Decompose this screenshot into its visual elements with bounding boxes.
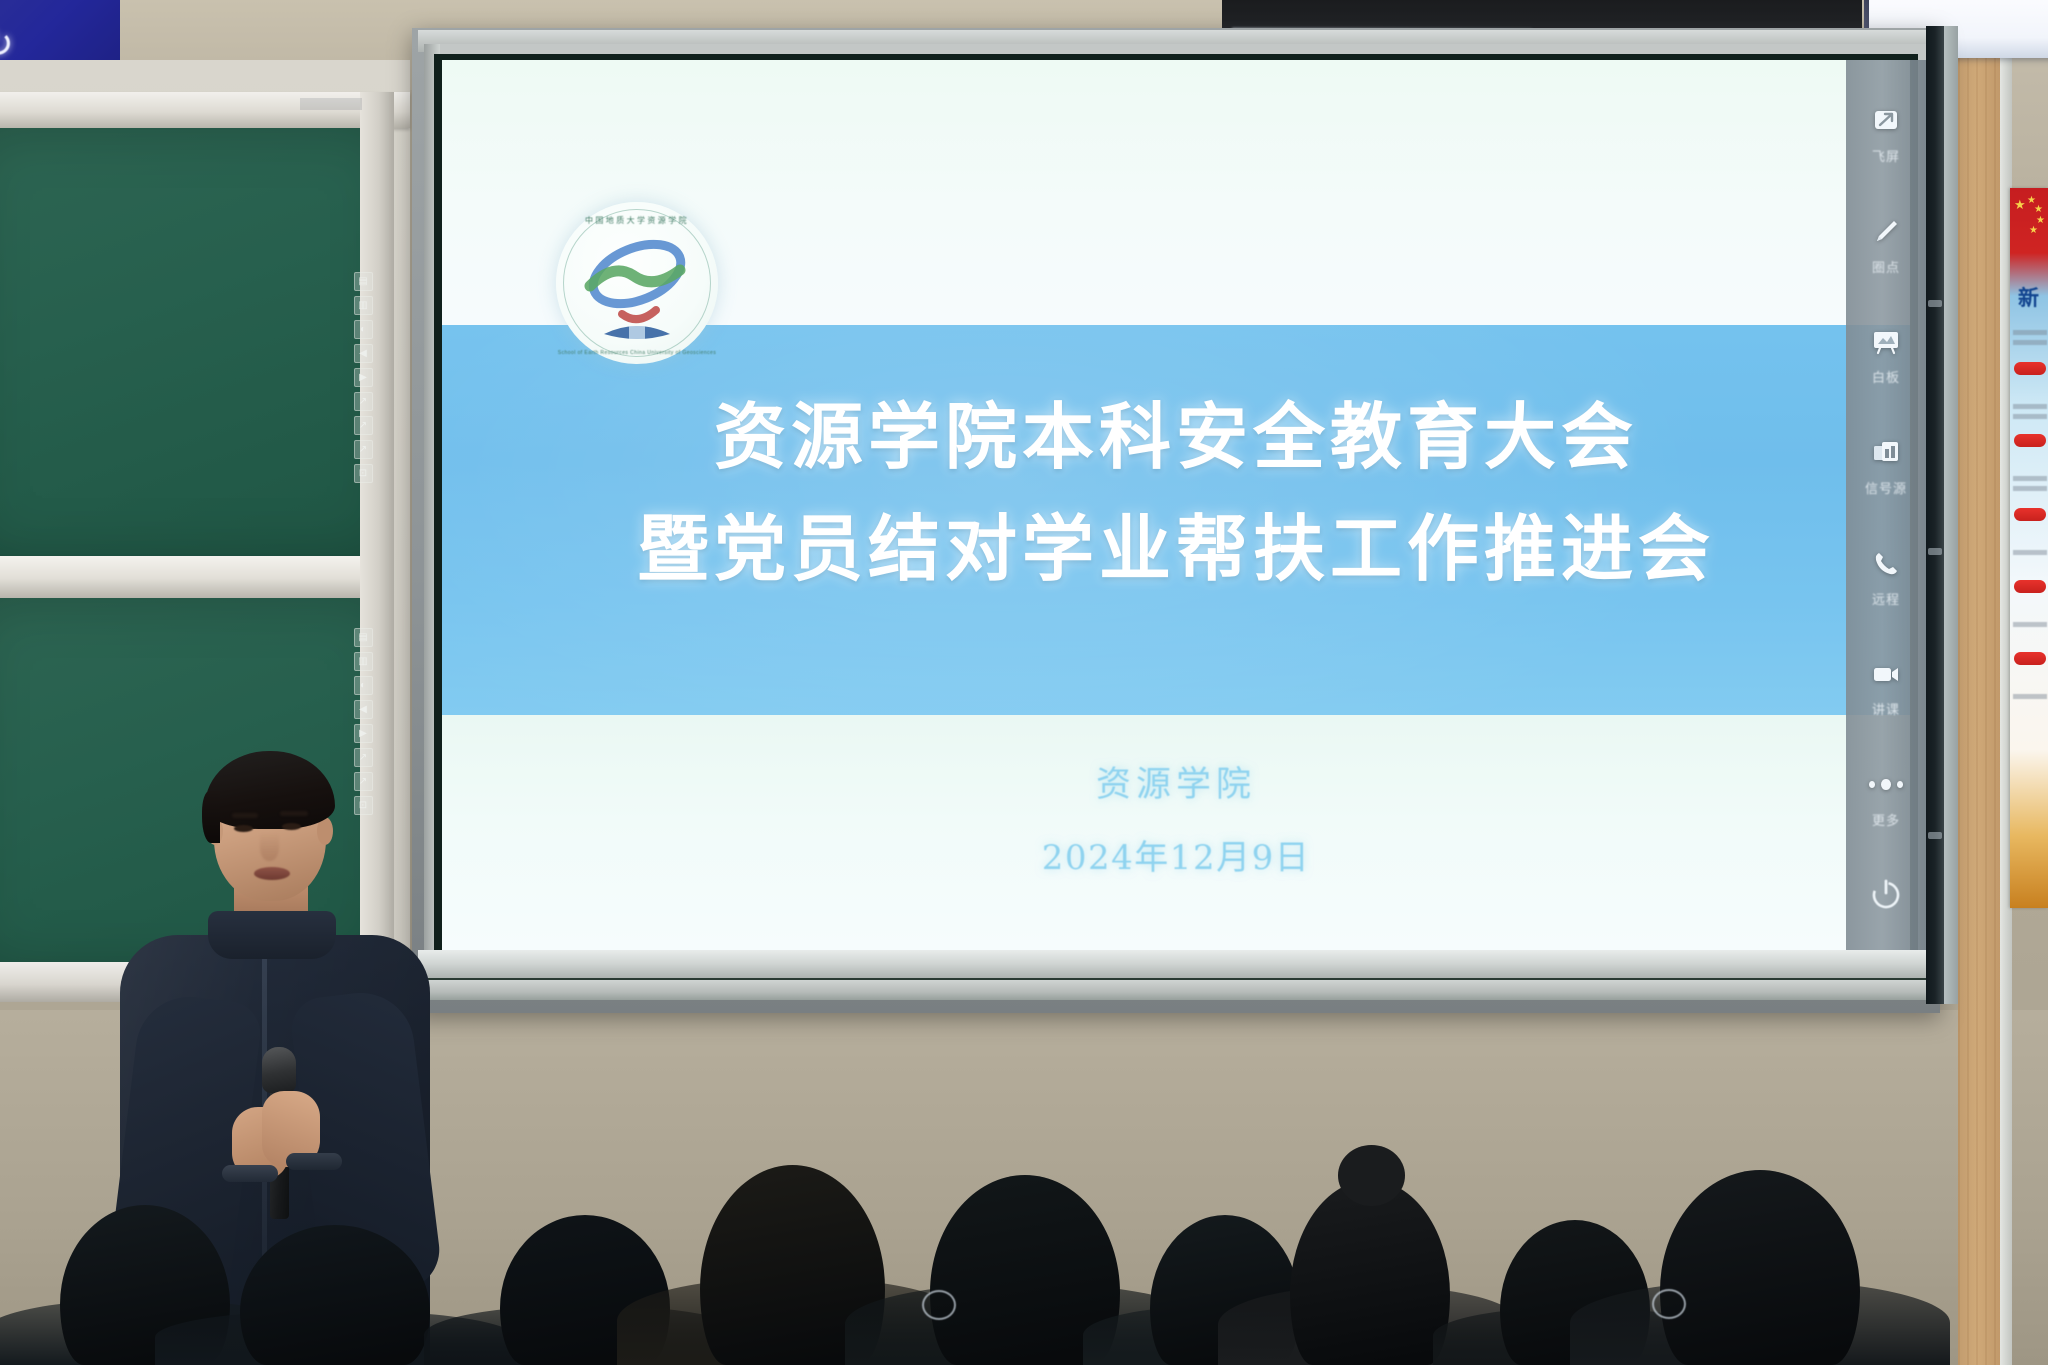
board2-btn-contrast[interactable]: ◐ (354, 676, 373, 695)
presenter-collar (208, 911, 336, 959)
audience-hair-bun (1338, 1145, 1405, 1206)
phone-call-icon (1869, 547, 1903, 581)
poster-text-line (2013, 404, 2047, 409)
audience-head (1290, 1180, 1450, 1365)
audience-head (1660, 1170, 1860, 1365)
poster-text-line (2013, 486, 2047, 491)
camera-icon (1869, 657, 1903, 691)
toolbar-label-fly-screen: 飞屏 (1872, 146, 1900, 165)
board-btn-power[interactable]: ⊡ (354, 464, 373, 483)
poster-title: 新 (2018, 282, 2039, 312)
poster-pill (2014, 652, 2046, 665)
presenter-nose (260, 833, 279, 861)
presenter-mouth (254, 867, 290, 880)
flag-stars: ★ ★ ★ ★ ★ (2012, 196, 2046, 248)
toolbar-item-whiteboard[interactable]: 白板 (1846, 319, 1926, 430)
presenter-eyebrow-right (280, 811, 308, 816)
bezel-screw (1928, 300, 1942, 307)
board-btn-up-3[interactable]: ↗ (354, 440, 373, 459)
bezel-screw (1928, 832, 1942, 839)
toolbar-item-phone[interactable]: 远程 (1846, 541, 1926, 652)
bezel-screw (1928, 548, 1942, 555)
audience-glasses (1652, 1289, 1686, 1319)
poster-text-line (2013, 330, 2047, 335)
display-bottom-lip2 (408, 978, 1944, 1000)
toolbar-label-more: 更多 (1872, 810, 1900, 829)
audience-head (240, 1225, 430, 1365)
presenter-eyebrow-left (232, 813, 258, 818)
power-icon[interactable] (1864, 873, 1908, 916)
emblem-cn-text: 中国地质大学资源学院 (556, 215, 718, 226)
toolbar-label-signal-source: 信号源 (1865, 478, 1907, 497)
poster-text-line (2013, 476, 2047, 481)
poster-pill (2014, 362, 2046, 375)
annotate-pen-icon (1869, 215, 1903, 249)
board-btn-source[interactable]: ▥ (354, 296, 373, 315)
poster-text-line (2013, 340, 2047, 345)
poster-pill (2014, 434, 2046, 447)
toolbar-item-signal-source[interactable]: 信号源 (1846, 430, 1926, 541)
board-btn-next[interactable]: ▶ (354, 368, 373, 387)
toolbar-item-fly-screen[interactable]: 飞屏 (1846, 98, 1926, 209)
board-btn-contrast[interactable]: ◐ (354, 320, 373, 339)
poster-text-line (2013, 622, 2047, 627)
display-bottom-lip (418, 950, 1934, 980)
blackboard-top-plate (300, 98, 362, 110)
signal-source-icon (1869, 436, 1903, 470)
board-control-strip-upper[interactable]: ▤ ▥ ◐ ◀ ▶ ↗ ↗ ↗ ⊡ (352, 272, 374, 483)
presentation-slide[interactable]: 中国地质大学资源学院 School of Earth Resources Chi… (442, 60, 1910, 950)
more-dots-icon (1869, 768, 1903, 802)
toolbar-item-camera[interactable]: 讲课 (1846, 651, 1926, 762)
board2-btn-prev[interactable]: ◀ (354, 700, 373, 719)
poster-text-line (2013, 694, 2047, 699)
toolbar-label-whiteboard: 白板 (1872, 367, 1900, 386)
screenshot-root: ★ ★ ★ ★ ★ 新 ↻ ▤ ▥ ◐ ◀ ▶ ↗ ↗ ↗ ⊡ (0, 0, 2048, 1365)
whiteboard-icon (1869, 325, 1903, 359)
board2-btn-menu[interactable]: ▤ (354, 628, 373, 647)
audience-row (0, 1150, 2048, 1365)
presenter-eye-left (234, 825, 253, 832)
microphone-head (262, 1047, 296, 1093)
slide-title-line-1: 资源学院本科安全教育大会 (442, 378, 1910, 483)
display-side-toolbar[interactable]: 飞屏 圈点 白板 (1846, 60, 1926, 950)
board-btn-up-2[interactable]: ↗ (354, 416, 373, 435)
poster-text-line (2013, 414, 2047, 419)
display-right-light-edge (1944, 26, 1958, 1004)
slide-organization: 资源学院 (442, 756, 1910, 807)
audience-glasses (922, 1290, 956, 1320)
poster-pill (2014, 508, 2046, 521)
board-btn-menu[interactable]: ▤ (354, 272, 373, 291)
slide-canvas: 中国地质大学资源学院 School of Earth Resources Chi… (442, 60, 1910, 950)
board-btn-prev[interactable]: ◀ (354, 344, 373, 363)
board-btn-up-1[interactable]: ↗ (354, 392, 373, 411)
fly-screen-icon (1869, 104, 1903, 138)
toolbar-label-camera: 讲课 (1872, 699, 1900, 718)
toolbar-item-annotate[interactable]: 圈点 (1846, 209, 1926, 320)
toolbar-item-more[interactable]: 更多 (1846, 762, 1926, 873)
chalk-tray (0, 556, 390, 600)
board2-btn-source[interactable]: ▥ (354, 652, 373, 671)
school-emblem-icon: 中国地质大学资源学院 School of Earth Resources Chi… (556, 202, 718, 364)
poster-text-line (2013, 550, 2047, 555)
toolbar-label-phone: 远程 (1872, 589, 1900, 608)
slide-date: 2024年12月9日 (442, 830, 1910, 879)
emblem-en-text: School of Earth Resources China Universi… (556, 350, 718, 356)
chalkboard-panel-upper (0, 128, 390, 558)
presenter-hair (205, 751, 335, 829)
slide-title-line-2: 暨党员结对学业帮扶工作推进会 (442, 490, 1910, 595)
poster-pill (2014, 580, 2046, 593)
presenter-eye-right (282, 823, 301, 830)
emblem-artwork (556, 202, 718, 364)
toolbar-label-annotate: 圈点 (1872, 257, 1900, 276)
display-right-dark-edge (1926, 26, 1944, 1004)
